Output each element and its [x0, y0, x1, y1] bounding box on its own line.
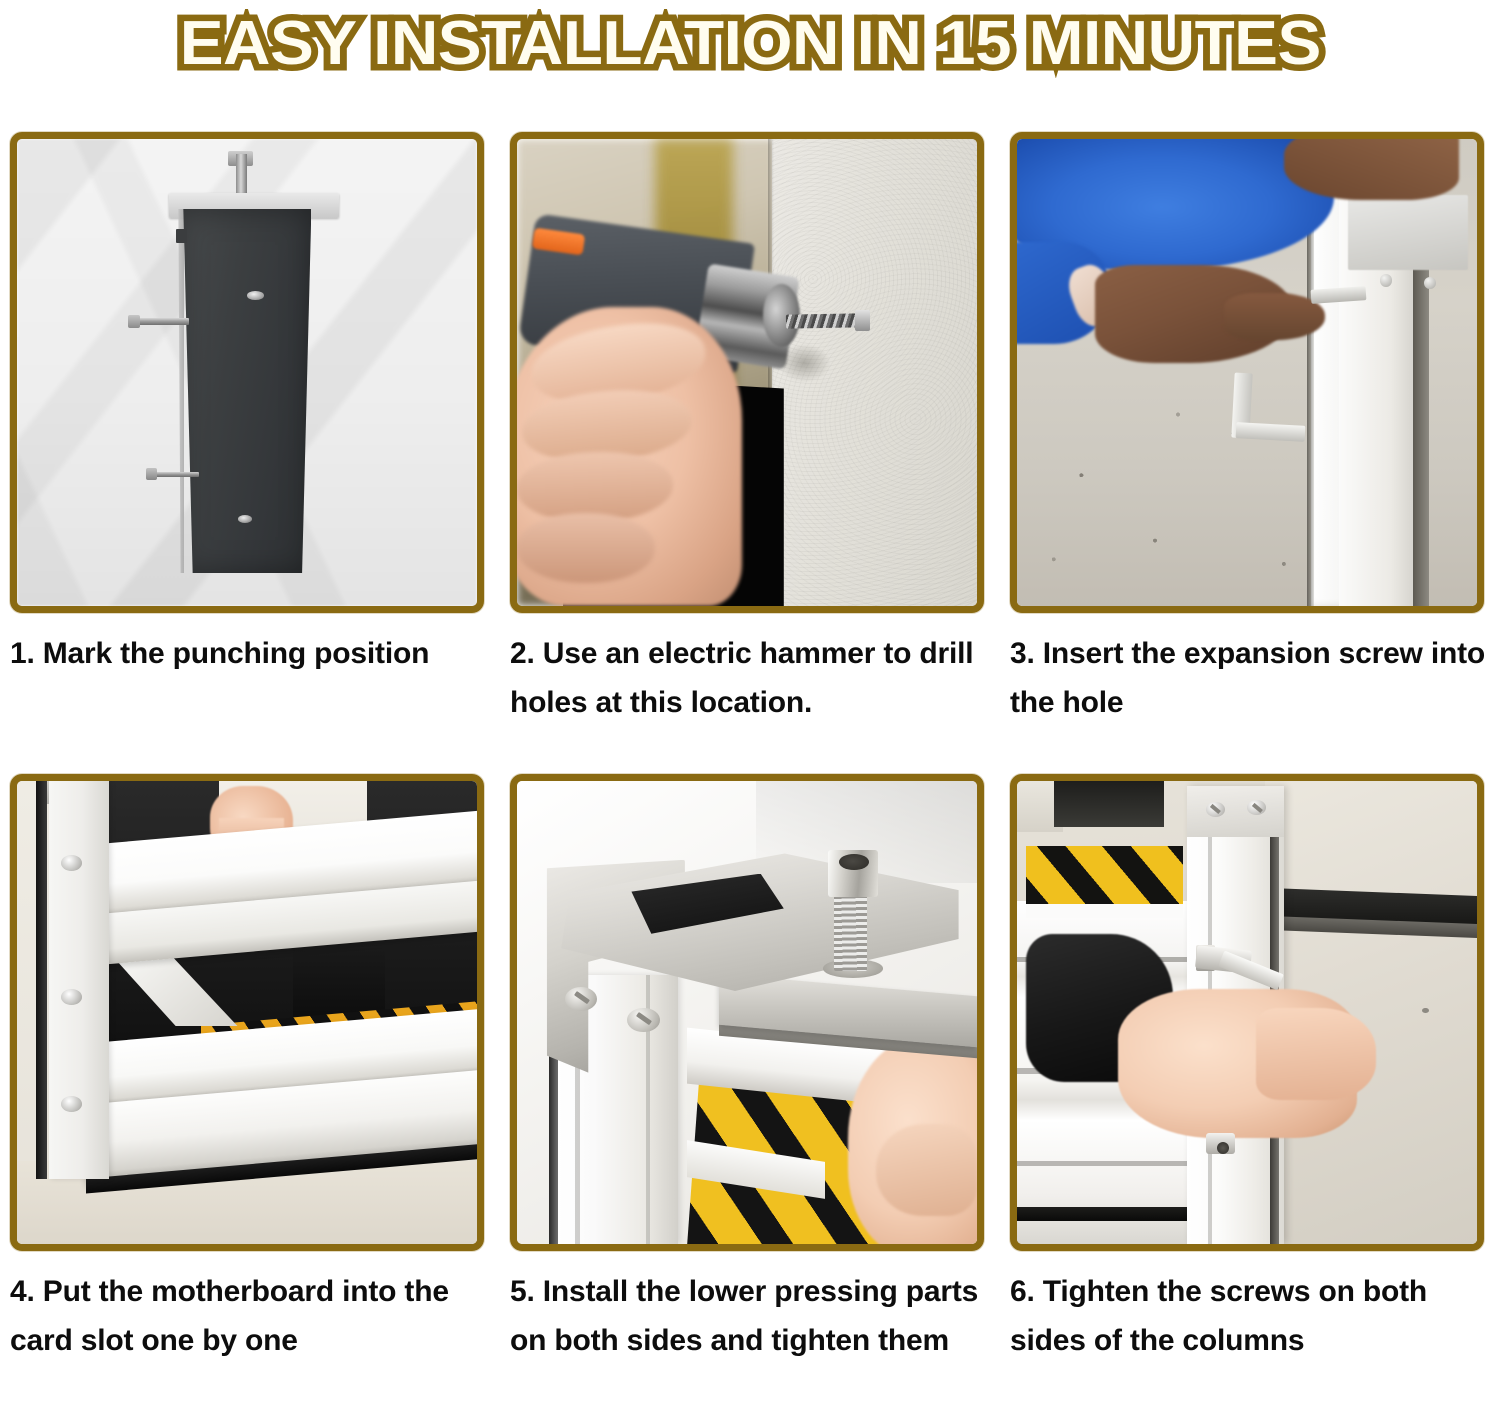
expansion-screw-2: [1424, 277, 1436, 289]
step-6-caption-cell: 6. Tighten the screws on both sides of t…: [1000, 1263, 1500, 1403]
worker-fingers: [1224, 293, 1325, 340]
step-1-scene: [17, 139, 477, 606]
worker-upper-arm: [1284, 139, 1459, 200]
slotted-white-column: [49, 781, 109, 1179]
hex-key-long-arm: [1235, 422, 1305, 441]
column-tab: [176, 229, 187, 243]
step-3-scene: [1017, 139, 1477, 606]
bolt-head-bore: [839, 854, 869, 870]
step-1-photo-cell: [0, 128, 500, 625]
step-4-photo-frame: [10, 774, 484, 1251]
step-2-photo-cell: [500, 128, 1000, 625]
step-1-caption-cell: 1. Mark the punching position: [0, 625, 500, 770]
hazard-stripe-band: [1026, 846, 1182, 911]
step-6-photo-cell: [1000, 770, 1500, 1263]
step-3-caption: 3. Insert the expansion screw into the h…: [1010, 629, 1486, 727]
step-5-photo-cell: [500, 770, 1000, 1263]
step-2-scene: [517, 139, 977, 606]
step-4-caption-cell: 4. Put the motherboard into the card slo…: [0, 1263, 500, 1403]
installer-thumb: [876, 1124, 977, 1217]
upper-dark-area: [1054, 781, 1164, 827]
step-5-scene: [517, 781, 977, 1244]
installation-guide-sheet: EASY INSTALLATION IN 15 MINUTES: [0, 0, 1500, 1403]
step-4-photo-cell: [0, 770, 500, 1263]
base-rail: [1017, 1207, 1210, 1221]
column-bolt-2: [61, 989, 82, 1005]
step-4-caption: 4. Put the motherboard into the card slo…: [10, 1267, 486, 1365]
column-bolt-3: [61, 1096, 82, 1112]
top-bolt-shaft: [236, 154, 247, 196]
step-2-photo-frame: [510, 132, 984, 613]
hazard-band-edge: [1026, 904, 1182, 918]
step-6-scene: [1017, 781, 1477, 1244]
steps-grid: 1. Mark the punching position 2. Use an …: [0, 128, 1500, 1403]
title-banner: EASY INSTALLATION IN 15 MINUTES: [0, 0, 1500, 88]
board-seam-3: [1017, 1161, 1210, 1167]
step-1-caption: 1. Mark the punching position: [10, 629, 486, 678]
step-6-caption: 6. Tighten the screws on both sides of t…: [1010, 1267, 1486, 1365]
drill-bit-tip: [855, 310, 870, 331]
step-2-caption: 2. Use an electric hammer to drill holes…: [510, 629, 986, 727]
thumb-bolt-thread: [834, 887, 866, 970]
step-2-caption-cell: 2. Use an electric hammer to drill holes…: [500, 625, 1000, 770]
masonry-drill-bit: [786, 313, 860, 329]
step-3-photo-frame: [1010, 132, 1484, 613]
step-6-photo-frame: [1010, 774, 1484, 1251]
page-title: EASY INSTALLATION IN 15 MINUTES: [179, 13, 1320, 75]
step-3-caption-cell: 3. Insert the expansion screw into the h…: [1000, 625, 1500, 770]
marking-pin-upper-tip: [128, 315, 140, 329]
column-groove: [1307, 190, 1314, 606]
column-dark-groove: [36, 781, 47, 1179]
column-top-plate: [1187, 786, 1284, 837]
column-bolt-1: [61, 855, 82, 871]
installer-fingers: [1256, 1008, 1376, 1101]
drilling-dust: [779, 344, 830, 381]
step-1-photo-frame: [10, 132, 484, 613]
step-3-photo-cell: [1000, 128, 1500, 625]
step-5-caption: 5. Install the lower pressing parts on b…: [510, 1267, 986, 1365]
step-5-caption-cell: 5. Install the lower pressing parts on b…: [500, 1263, 1000, 1403]
column-top-plate: [1348, 195, 1468, 270]
mounting-hole-upper: [247, 291, 264, 300]
expansion-screw-1: [1380, 274, 1392, 286]
step-4-scene: [17, 781, 477, 1244]
finger-4: [517, 513, 655, 583]
marking-pin-lower-tip: [146, 468, 157, 480]
step-5-photo-frame: [510, 774, 984, 1251]
